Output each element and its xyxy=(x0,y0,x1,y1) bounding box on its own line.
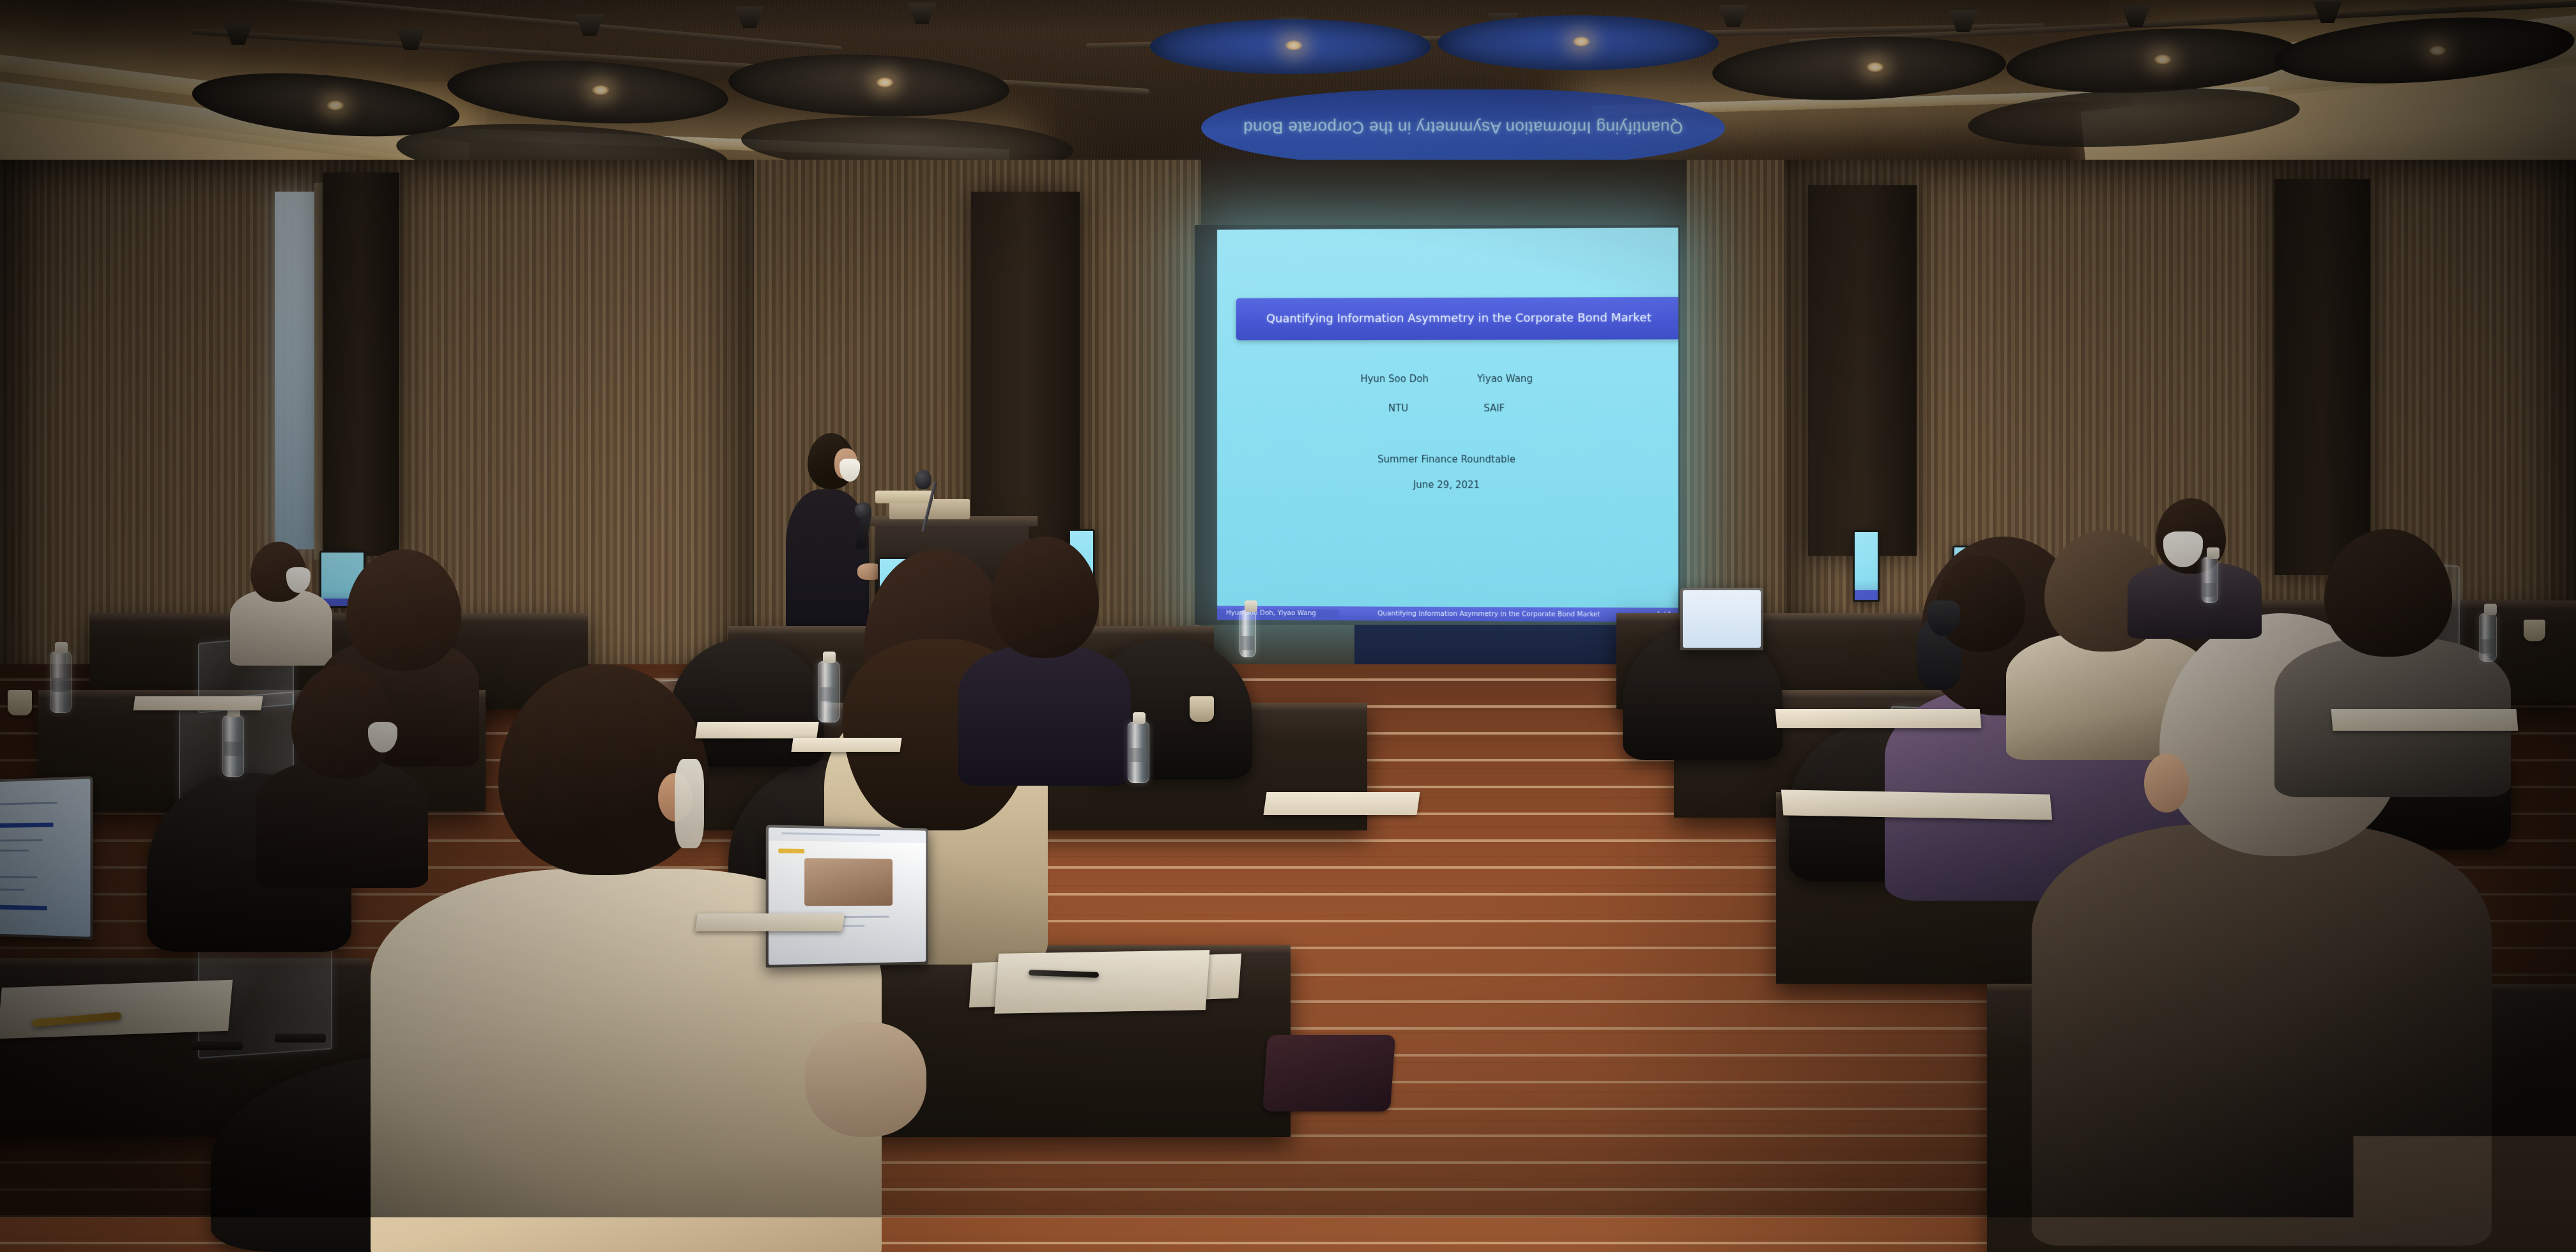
photo-vignette xyxy=(0,0,2576,1252)
conference-room-photo: Quantifying Information Asymmetry in the… xyxy=(0,0,2576,1252)
